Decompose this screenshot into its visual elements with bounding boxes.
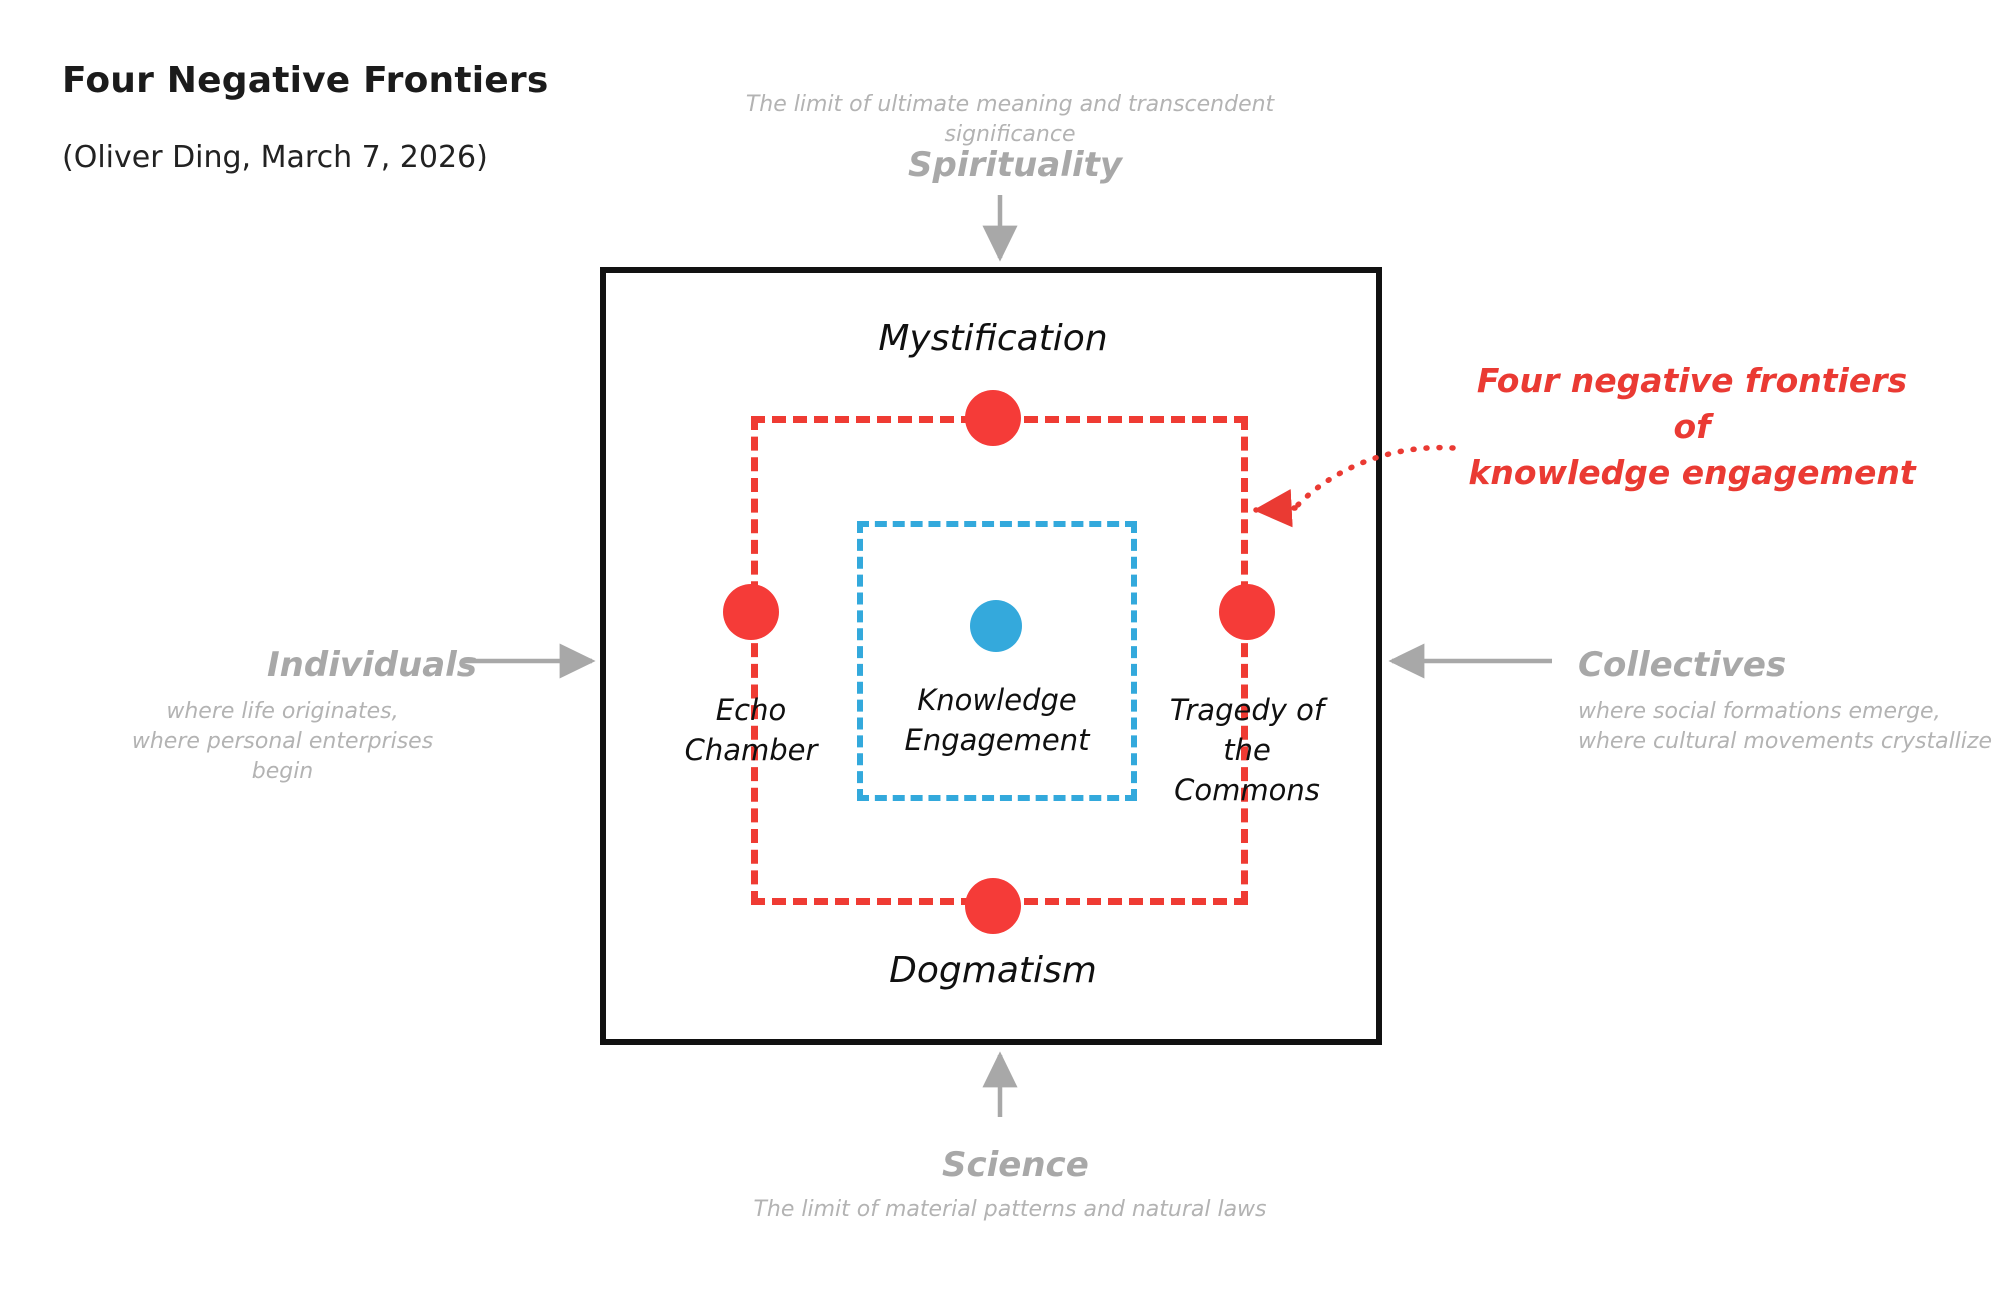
page-subtitle: (Oliver Ding, March 7, 2026) xyxy=(62,140,488,175)
axis-label-individuals: Individuals xyxy=(267,645,477,685)
axis-description-science: The limit of material patterns and natur… xyxy=(700,1195,1320,1225)
node-label-dogmatism: Dogmatism xyxy=(793,952,1193,990)
axis-description-individuals: where life originates, where personal en… xyxy=(110,697,455,787)
axis-description-collectives: where social formations emerge, where cu… xyxy=(1578,697,1998,757)
axis-label-spirituality: Spirituality xyxy=(908,145,1122,185)
axis-label-science: Science xyxy=(942,1145,1089,1185)
page-title: Four Negative Frontiers xyxy=(62,60,549,101)
node-label-tragedy-of-the-commons: Tragedy of the Commons xyxy=(1147,690,1347,810)
blue-circle-node-knowledge-engagement xyxy=(970,600,1022,652)
annotation-four-negative-frontiers: Four negative frontiers of knowledge eng… xyxy=(1457,358,1927,496)
axis-label-collectives: Collectives xyxy=(1578,645,1786,685)
red-circle-node-echo-chamber xyxy=(723,584,779,640)
node-label-echo-chamber: Echo Chamber xyxy=(651,690,851,770)
node-label-knowledge-engagement: Knowledge Engagement xyxy=(877,680,1117,760)
diagram-canvas: Four Negative Frontiers (Oliver Ding, Ma… xyxy=(0,0,2000,1291)
node-label-mystification: Mystification xyxy=(793,320,1193,358)
red-circle-node-mystification xyxy=(965,390,1021,446)
red-circle-node-tragedy-of-the-commons xyxy=(1219,584,1275,640)
axis-description-spirituality: The limit of ultimate meaning and transc… xyxy=(700,90,1320,150)
red-circle-node-dogmatism xyxy=(965,878,1021,934)
